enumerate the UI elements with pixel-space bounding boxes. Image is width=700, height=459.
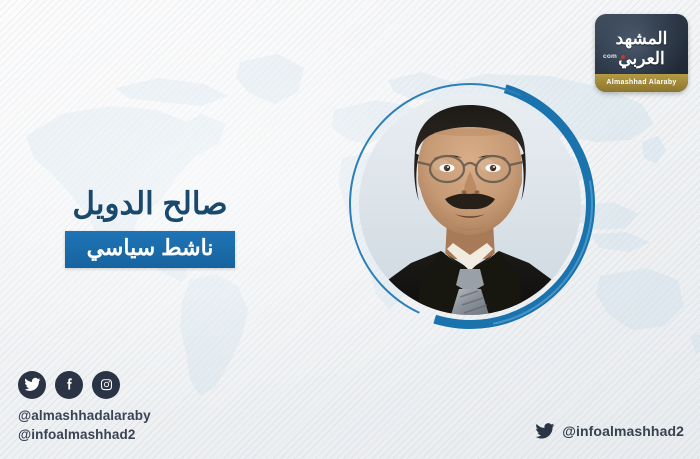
footer-twitter-link[interactable]: @infoalmashhad2 [535, 421, 684, 441]
portrait-frame [345, 79, 595, 329]
social-links: @almashhadalaraby @infoalmashhad2 [18, 371, 151, 445]
logo-latin-name: Almashhad Alaraby [595, 74, 688, 92]
instagram-icon[interactable] [92, 371, 120, 399]
twitter-icon[interactable] [18, 371, 46, 399]
logo-com-label: com [603, 53, 617, 60]
status-badge: ناشط سياسي [65, 231, 236, 268]
person-photo [359, 93, 581, 315]
social-handle-primary[interactable]: @almashhadalaraby [18, 406, 151, 426]
page-title: صالح الدويل [0, 186, 300, 222]
social-handle-secondary[interactable]: @infoalmashhad2 [18, 425, 151, 445]
social-icon-row [18, 371, 151, 399]
person-identity-block: صالح الدويل ناشط سياسي [0, 186, 300, 268]
almashhad-alaraby-logo[interactable]: المشهد العربي com Almashhad Alaraby [595, 14, 688, 92]
twitter-bird-icon [535, 421, 555, 441]
news-graphic-card: المشهد العربي com Almashhad Alaraby [0, 0, 700, 459]
logo-arabic-line-1: المشهد [595, 30, 688, 48]
logo-red-dot-icon [621, 55, 625, 59]
footer-twitter-handle: @infoalmashhad2 [562, 423, 684, 439]
facebook-icon[interactable] [55, 371, 83, 399]
